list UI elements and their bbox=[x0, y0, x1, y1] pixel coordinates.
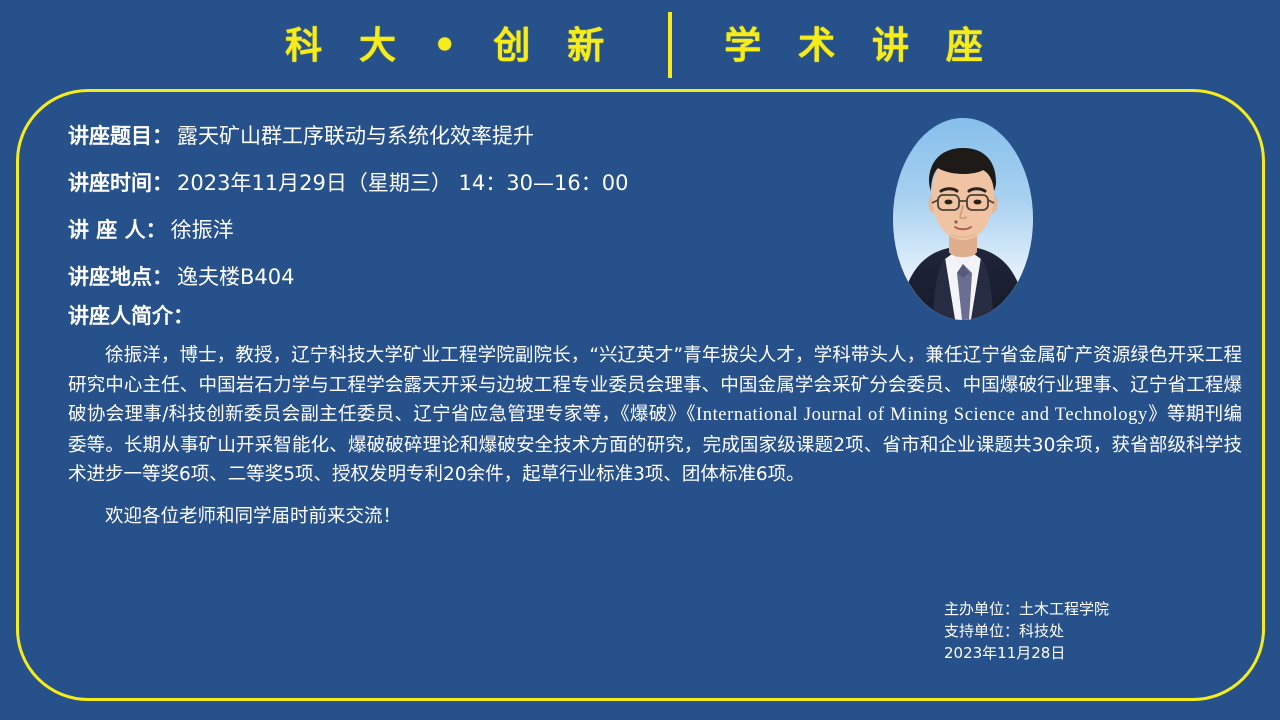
header-title-right: 学 术 讲 座 bbox=[724, 27, 995, 64]
lecture-info-block: 讲座题目： 露天矿山群工序联动与系统化效率提升 讲座时间： 2023年11月29… bbox=[68, 120, 878, 308]
poster-header: 科 大 • 创 新 学 术 讲 座 bbox=[0, 0, 1280, 90]
footer-organizer: 主办单位：土木工程学院 bbox=[944, 598, 1109, 620]
speaker-photo bbox=[893, 118, 1033, 320]
speaker-label: 讲 座 人： bbox=[68, 214, 167, 244]
lecture-poster: 科 大 • 创 新 学 术 讲 座 讲座题目： 露天矿山群工序联动与系统化效率提… bbox=[0, 0, 1280, 720]
bio-journal-name: International Journal of Mining Science … bbox=[696, 405, 1148, 425]
topic-label: 讲座题目： bbox=[68, 120, 173, 150]
bio-paragraph-2: 欢迎各位老师和同学届时前来交流！ bbox=[68, 502, 1242, 532]
header-title-left: 科 大 • 创 新 bbox=[285, 27, 616, 64]
bio-heading: 讲座人简介： bbox=[68, 300, 194, 330]
time-value: 2023年11月29日（星期三） 14：30—16：00 bbox=[177, 167, 628, 197]
info-row-topic: 讲座题目： 露天矿山群工序联动与系统化效率提升 bbox=[68, 120, 878, 167]
info-row-speaker: 讲 座 人： 徐振洋 bbox=[68, 214, 878, 261]
header-divider bbox=[668, 12, 672, 78]
poster-footer: 主办单位：土木工程学院 支持单位：科技处 2023年11月28日 bbox=[944, 598, 1109, 664]
speaker-value: 徐振洋 bbox=[171, 214, 234, 244]
time-label: 讲座时间： bbox=[68, 167, 173, 197]
topic-value: 露天矿山群工序联动与系统化效率提升 bbox=[177, 120, 534, 150]
speaker-photo-oval bbox=[893, 118, 1033, 320]
bio-paragraph-1: 徐振洋，博士，教授，辽宁科技大学矿业工程学院副院长，“兴辽英才”青年拔尖人才，学… bbox=[68, 341, 1242, 490]
info-row-time: 讲座时间： 2023年11月29日（星期三） 14：30—16：00 bbox=[68, 167, 878, 214]
portrait-illustration bbox=[893, 118, 1033, 320]
place-value: 逸夫楼B404 bbox=[177, 261, 295, 291]
bio-body: 徐振洋，博士，教授，辽宁科技大学矿业工程学院副院长，“兴辽英才”青年拔尖人才，学… bbox=[68, 341, 1242, 531]
place-label: 讲座地点： bbox=[68, 261, 173, 291]
footer-date: 2023年11月28日 bbox=[944, 642, 1109, 664]
footer-supporter: 支持单位：科技处 bbox=[944, 620, 1109, 642]
